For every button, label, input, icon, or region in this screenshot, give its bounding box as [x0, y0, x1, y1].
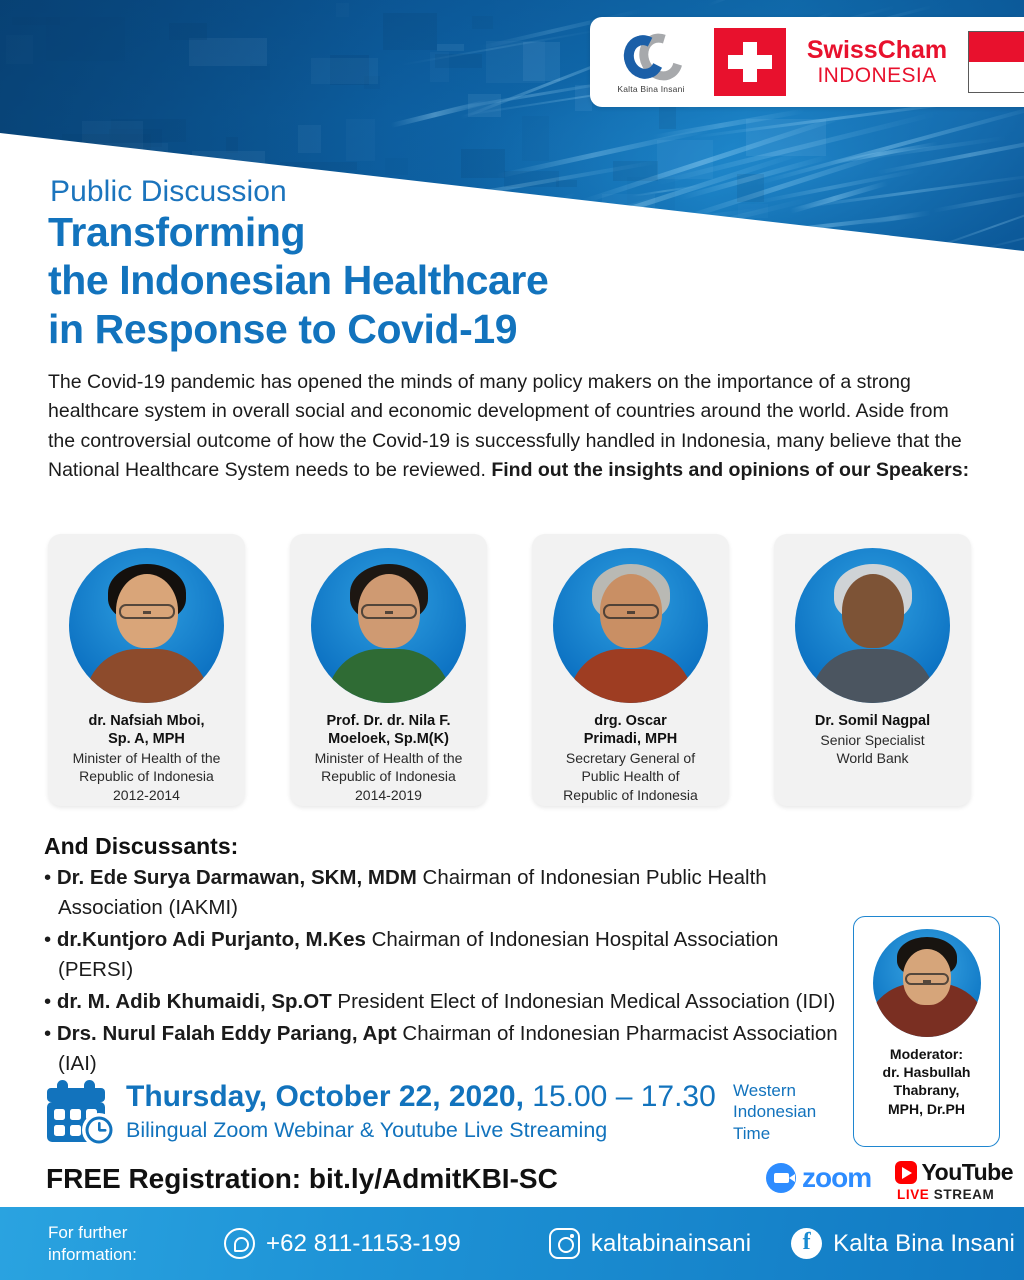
moderator-label: Moderator:dr. HasbullahThabrany,MPH, Dr.…: [883, 1045, 971, 1118]
youtube-live-label: LIVE: [897, 1187, 929, 1202]
zoom-label: zoom: [802, 1162, 871, 1194]
youtube-sublabel: LIVE STREAM: [897, 1187, 1013, 1202]
moderator-avatar: [873, 929, 981, 1037]
discussant-name: dr. M. Adib Khumaidi, Sp.OT: [57, 990, 332, 1013]
facebook-icon: [791, 1228, 822, 1259]
speaker-avatar: [795, 548, 950, 703]
speaker-avatar: [311, 548, 466, 703]
logo-strip: Kalta Bina Insani SwissCham INDONESIA: [590, 17, 1024, 107]
footer-instagram[interactable]: kaltabinainsani: [549, 1228, 751, 1259]
event-format: Bilingual Zoom Webinar & Youtube Live St…: [126, 1118, 607, 1143]
speaker-name: Prof. Dr. dr. Nila F.Moeloek, Sp.M(K): [320, 712, 456, 748]
footer-facebook[interactable]: Kalta Bina Insani: [791, 1228, 1015, 1259]
discussants-list: • Dr. Ede Surya Darmawan, SKM, MDM Chair…: [44, 863, 844, 1080]
swiss-flag-icon: [714, 28, 786, 96]
speaker-avatar: [553, 548, 708, 703]
event-date-line: Thursday, October 22, 2020, 15.00 – 17.3…: [126, 1080, 716, 1114]
whatsapp-number: +62 811-1153-199: [266, 1230, 461, 1258]
facebook-page: Kalta Bina Insani: [833, 1230, 1015, 1258]
discussant-role: President Elect of Indonesian Medical As…: [332, 990, 836, 1013]
swisscham-country-label: INDONESIA: [802, 64, 952, 87]
kbi-mark-icon: [618, 31, 684, 83]
discussants-heading: And Discussants:: [44, 833, 238, 860]
title-line-1: Transforming: [48, 208, 548, 256]
youtube-stream-label: STREAM: [934, 1187, 995, 1202]
speaker-card: dr. Nafsiah Mboi,Sp. A, MPHMinister of H…: [48, 534, 245, 806]
footer-info-label: For furtherinformation:: [48, 1222, 168, 1265]
speaker-card: Prof. Dr. dr. Nila F.Moeloek, Sp.M(K)Min…: [290, 534, 487, 806]
event-time: 15.00 – 17.30: [524, 1080, 716, 1113]
event-timezone: Western Indonesian Time: [733, 1080, 843, 1144]
swisscham-label: SwissCham: [802, 37, 952, 63]
discussant-item: • Dr. Ede Surya Darmawan, SKM, MDM Chair…: [44, 863, 844, 923]
youtube-label: YouTube: [922, 1159, 1013, 1186]
title-line-3: in Response to Covid-19: [48, 305, 548, 353]
discussant-name: dr.Kuntjoro Adi Purjanto, M.Kes: [57, 928, 366, 951]
discussant-item: • dr. M. Adib Khumaidi, Sp.OT President …: [44, 987, 844, 1017]
moderator-card: Moderator:dr. HasbullahThabrany,MPH, Dr.…: [853, 916, 1000, 1147]
discussant-item: • dr.Kuntjoro Adi Purjanto, M.Kes Chairm…: [44, 925, 844, 985]
speaker-name: Dr. Somil Nagpal: [809, 712, 936, 730]
indonesia-flag-icon: [968, 31, 1024, 93]
kalta-bina-insani-logo: Kalta Bina Insani: [604, 31, 698, 94]
discussant-item: • Drs. Nurul Falah Eddy Pariang, Apt Cha…: [44, 1019, 844, 1079]
speaker-name: drg. OscarPrimadi, MPH: [578, 712, 683, 748]
zoom-camera-icon: [766, 1163, 796, 1193]
registration-link[interactable]: FREE Registration: bit.ly/AdmitKBI-SC: [46, 1163, 558, 1195]
event-poster: Kalta Bina Insani SwissCham INDONESIA Pu…: [0, 0, 1024, 1280]
event-date: Thursday, October 22, 2020,: [126, 1080, 524, 1113]
speaker-card: drg. OscarPrimadi, MPHSecretary General …: [532, 534, 729, 806]
discussant-name: Drs. Nurul Falah Eddy Pariang, Apt: [57, 1022, 397, 1045]
discussant-name: Dr. Ede Surya Darmawan, SKM, MDM: [57, 866, 417, 889]
speaker-avatar: [69, 548, 224, 703]
title-line-2: the Indonesian Healthcare: [48, 256, 548, 304]
speaker-role: Secretary General ofPublic Health ofRepu…: [557, 749, 704, 804]
speaker-name: dr. Nafsiah Mboi,Sp. A, MPH: [82, 712, 210, 748]
intro-cta: Find out the insights and opinions of ou…: [491, 459, 969, 481]
youtube-live-stream-logo: YouTube LIVE STREAM: [895, 1159, 1013, 1202]
kicker-label: Public Discussion: [50, 175, 287, 209]
kbi-logo-label: Kalta Bina Insani: [617, 84, 684, 94]
speaker-card: Dr. Somil NagpalSenior SpecialistWorld B…: [774, 534, 971, 806]
page-title: Transforming the Indonesian Healthcare i…: [48, 208, 548, 353]
speakers-row: dr. Nafsiah Mboi,Sp. A, MPHMinister of H…: [48, 534, 976, 806]
youtube-play-icon: [895, 1161, 917, 1184]
instagram-handle: kaltabinainsani: [591, 1230, 751, 1258]
swisscham-logo: SwissCham INDONESIA: [802, 37, 952, 86]
intro-paragraph: The Covid-19 pandemic has opened the min…: [48, 368, 978, 485]
speaker-role: Minister of Health of theRepublic of Ind…: [67, 749, 227, 804]
footer-contact-bar: For furtherinformation: +62 811-1153-199…: [0, 1207, 1024, 1280]
speaker-role: Senior SpecialistWorld Bank: [814, 731, 930, 767]
zoom-logo: zoom: [766, 1162, 871, 1194]
instagram-icon: [549, 1228, 580, 1259]
calendar-clock-icon: [44, 1078, 122, 1148]
speaker-role: Minister of Health of theRepublic of Ind…: [309, 749, 469, 804]
footer-whatsapp[interactable]: +62 811-1153-199: [224, 1228, 461, 1259]
whatsapp-icon: [224, 1228, 255, 1259]
